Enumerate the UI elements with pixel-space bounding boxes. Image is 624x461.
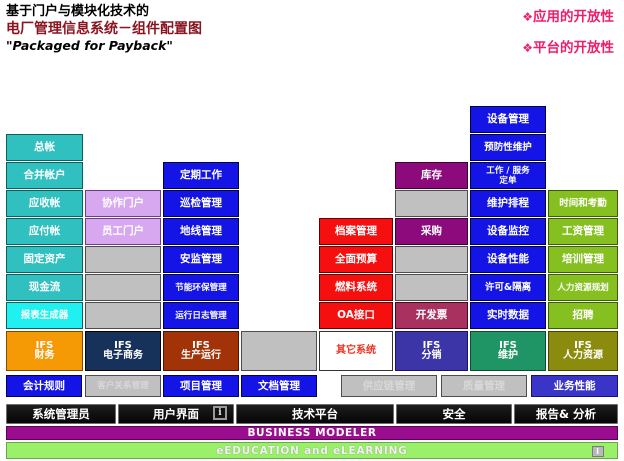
openness-application: ❖应用的开放性 — [522, 5, 614, 25]
module-box-placeholder — [395, 190, 468, 217]
ifs-product-label: 维护 — [498, 351, 518, 362]
ifs-product-box[interactable]: 其它系统 — [319, 331, 393, 371]
module-box-production[interactable]: 巡检管理 — [163, 190, 239, 217]
ifs-product-box[interactable]: IFS生产运行 — [163, 331, 239, 371]
foundation-box[interactable]: 文档管理 — [241, 375, 317, 397]
ifs-product-label: 电子商务 — [103, 351, 143, 362]
ifs-product-box[interactable]: IFS分销 — [395, 331, 468, 371]
openness-platform: ❖平台的开放性 — [522, 36, 614, 56]
module-box-finance[interactable]: 现金流 — [6, 274, 83, 301]
module-box-ecommerce[interactable]: 协作门户 — [85, 190, 161, 217]
ifs-product-label: 生产运行 — [181, 351, 221, 362]
module-box-placeholder — [395, 246, 468, 273]
ifs-product-box[interactable]: IFS财务 — [6, 331, 83, 371]
module-box-other[interactable]: OA接口 — [319, 302, 393, 329]
platform-bar-3[interactable]: 安全 — [396, 404, 512, 424]
platform-bar-label: 系统管理员 — [32, 406, 90, 422]
module-box-finance[interactable]: 总帐 — [6, 134, 83, 161]
title-block: 基于门户与模块化技术的 电厂管理信息系统－组件配置图 "Packaged for… — [6, 3, 202, 54]
info-icon[interactable]: i — [213, 406, 227, 420]
ifs-product-box[interactable]: IFS维护 — [470, 331, 546, 371]
platform-bar-4[interactable]: 报告& 分析 — [514, 404, 618, 424]
business-modeler-bar: BUSINESS MODELER — [6, 426, 618, 440]
platform-bar-label: 报告& 分析 — [536, 406, 596, 422]
ifs-product-placeholder — [241, 331, 317, 371]
module-box-production[interactable]: 运行日志管理 — [163, 302, 239, 329]
elearning-label: eEDUCATION and eLEARNING — [216, 445, 407, 457]
module-box-maintenance[interactable]: 维护排程 — [470, 190, 546, 217]
module-box-finance[interactable]: 报表生成器 — [6, 302, 83, 329]
platform-bar-0[interactable]: 系统管理员 — [6, 404, 116, 424]
platform-bar-label: 用户界面 — [153, 406, 199, 422]
module-box-hr[interactable]: 人力资源规划 — [548, 274, 618, 301]
module-box-finance[interactable]: 合并帐户 — [6, 162, 83, 189]
module-box-maintenance[interactable]: 工作 / 服务 定单 — [470, 162, 546, 189]
ifs-product-label: 财务 — [35, 351, 55, 362]
module-box-distribution[interactable]: 开发票 — [395, 302, 468, 329]
module-box-finance[interactable]: 应付帐 — [6, 218, 83, 245]
module-box-finance[interactable]: 应收帐 — [6, 190, 83, 217]
foundation-box[interactable]: 项目管理 — [163, 375, 239, 397]
ifs-product-label: 人力资源 — [563, 351, 603, 362]
module-box-hr[interactable]: 时间和考勤 — [548, 190, 618, 217]
module-box-maintenance[interactable]: 设备监控 — [470, 218, 546, 245]
module-box-placeholder — [85, 302, 161, 329]
slide-canvas: 基于门户与模块化技术的 电厂管理信息系统－组件配置图 "Packaged for… — [0, 0, 624, 461]
module-box-production[interactable]: 安监管理 — [163, 246, 239, 273]
module-box-other[interactable]: 全面预算 — [319, 246, 393, 273]
module-box-placeholder — [85, 274, 161, 301]
openness-platform-label: 平台的开放性 — [533, 40, 614, 56]
platform-bar-2[interactable]: 技术平台 — [236, 404, 394, 424]
module-box-hr[interactable]: 培训管理 — [548, 246, 618, 273]
openness-application-label: 应用的开放性 — [533, 9, 614, 25]
module-box-ecommerce[interactable]: 员工门户 — [85, 218, 161, 245]
elearning-bar: eEDUCATION and eLEARNING i — [6, 442, 618, 459]
platform-bar-1[interactable]: 用户界面i — [118, 404, 234, 424]
module-box-distribution[interactable]: 采购 — [395, 218, 468, 245]
diamond-bullet-icon: ❖ — [522, 41, 533, 55]
foundation-box[interactable]: 供应链管理 — [341, 375, 437, 397]
foundation-box[interactable]: 业务性能 — [531, 375, 618, 397]
module-box-distribution[interactable]: 库存 — [395, 162, 468, 189]
title-line-1: 基于门户与模块化技术的 — [6, 3, 202, 20]
module-box-maintenance[interactable]: 设备性能 — [470, 246, 546, 273]
module-box-maintenance[interactable]: 许可&隔离 — [470, 274, 546, 301]
module-box-maintenance[interactable]: 预防性维护 — [470, 134, 546, 161]
business-modeler-label: BUSINESS MODELER — [247, 427, 376, 439]
module-box-placeholder — [85, 246, 161, 273]
module-box-placeholder — [395, 274, 468, 301]
module-box-production[interactable]: 节能环保管理 — [163, 274, 239, 301]
foundation-box[interactable]: 客户关系管理 — [85, 375, 161, 397]
module-box-production[interactable]: 地线管理 — [163, 218, 239, 245]
module-box-other[interactable]: 档案管理 — [319, 218, 393, 245]
module-box-maintenance[interactable]: 实时数据 — [470, 302, 546, 329]
platform-bar-label: 安全 — [443, 406, 466, 422]
title-line-2: 电厂管理信息系统－组件配置图 — [6, 20, 202, 38]
ifs-product-box[interactable]: IFS人力资源 — [548, 331, 618, 371]
module-box-hr[interactable]: 工资管理 — [548, 218, 618, 245]
module-box-production[interactable]: 定期工作 — [163, 162, 239, 189]
ifs-product-box[interactable]: IFS电子商务 — [85, 331, 161, 371]
module-box-maintenance[interactable]: 设备管理 — [470, 106, 546, 133]
foundation-box[interactable]: 质量管理 — [441, 375, 527, 397]
module-box-other[interactable]: 燃料系统 — [319, 274, 393, 301]
module-box-hr[interactable]: 招聘 — [548, 302, 618, 329]
ifs-product-label: 其它系统 — [336, 346, 376, 357]
ifs-product-label: 分销 — [422, 351, 442, 362]
module-box-finance[interactable]: 固定资产 — [6, 246, 83, 273]
diamond-bullet-icon: ❖ — [522, 10, 533, 24]
title-line-3: "Packaged for Payback" — [6, 38, 202, 54]
foundation-box[interactable]: 会计规则 — [6, 375, 82, 397]
platform-bar-label: 技术平台 — [292, 406, 338, 422]
info-icon: i — [592, 446, 604, 457]
